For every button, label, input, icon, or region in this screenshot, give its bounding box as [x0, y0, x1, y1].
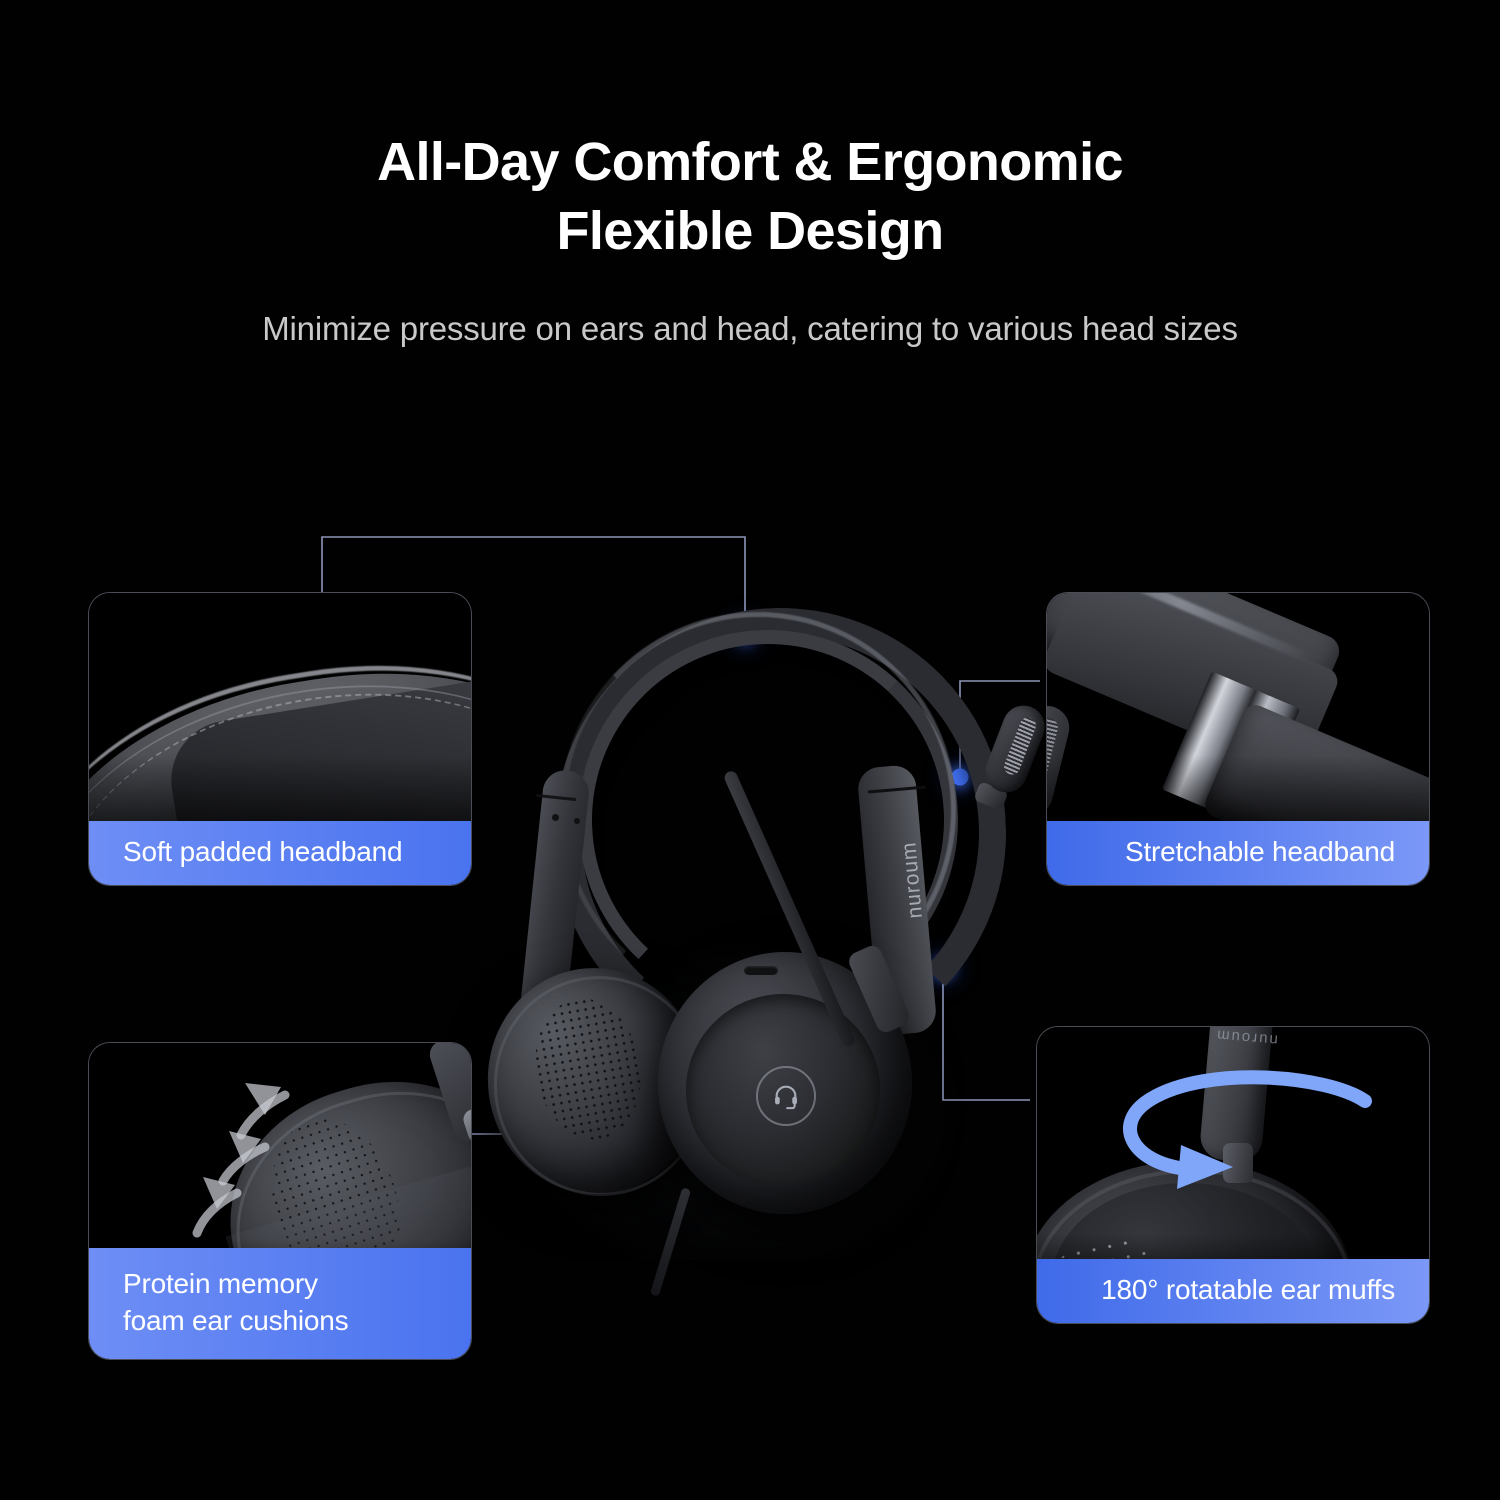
headset-icon — [756, 1066, 816, 1126]
feature-caption-rotatable-ear-muffs: 180° rotatable ear muffs — [1037, 1259, 1429, 1323]
caption-line-1: Protein memory — [123, 1266, 348, 1302]
earcup-right-notch — [744, 966, 778, 975]
headband-arm-left-screw-2 — [574, 818, 580, 824]
page-subtitle: Minimize pressure on ears and head, cate… — [0, 310, 1500, 348]
feature-panel-stretchable-headband[interactable]: Stretchable headband — [1046, 592, 1430, 886]
rotation-arrow-icon — [1077, 1057, 1407, 1207]
headband-arm-left-screw — [552, 814, 559, 821]
headset-glyph — [772, 1082, 800, 1110]
page-title: All-Day Comfort & Ergonomic Flexible Des… — [0, 128, 1500, 266]
feature-panel-protein-memory-foam[interactable]: Protein memory foam ear cushions — [88, 1042, 472, 1360]
feature-panel-rotatable-ear-muffs[interactable]: nuroum 180° rotatable ear muffs — [1036, 1026, 1430, 1324]
feature-caption-protein-memory-foam: Protein memory foam ear cushions — [89, 1248, 471, 1359]
feature-panel-soft-padded-headband[interactable]: Soft padded headband — [88, 592, 472, 886]
feature-caption-soft-padded-headband: Soft padded headband — [89, 821, 471, 885]
product-headset-image: nuroum — [470, 600, 1050, 1290]
headset-cable — [650, 1187, 691, 1297]
infographic-canvas: All-Day Comfort & Ergonomic Flexible Des… — [0, 0, 1500, 1500]
title-line-1: All-Day Comfort & Ergonomic — [377, 132, 1123, 192]
caption-line-2: foam ear cushions — [123, 1303, 348, 1339]
title-line-2: Flexible Design — [0, 197, 1500, 266]
feature-caption-stretchable-headband: Stretchable headband — [1047, 821, 1429, 885]
